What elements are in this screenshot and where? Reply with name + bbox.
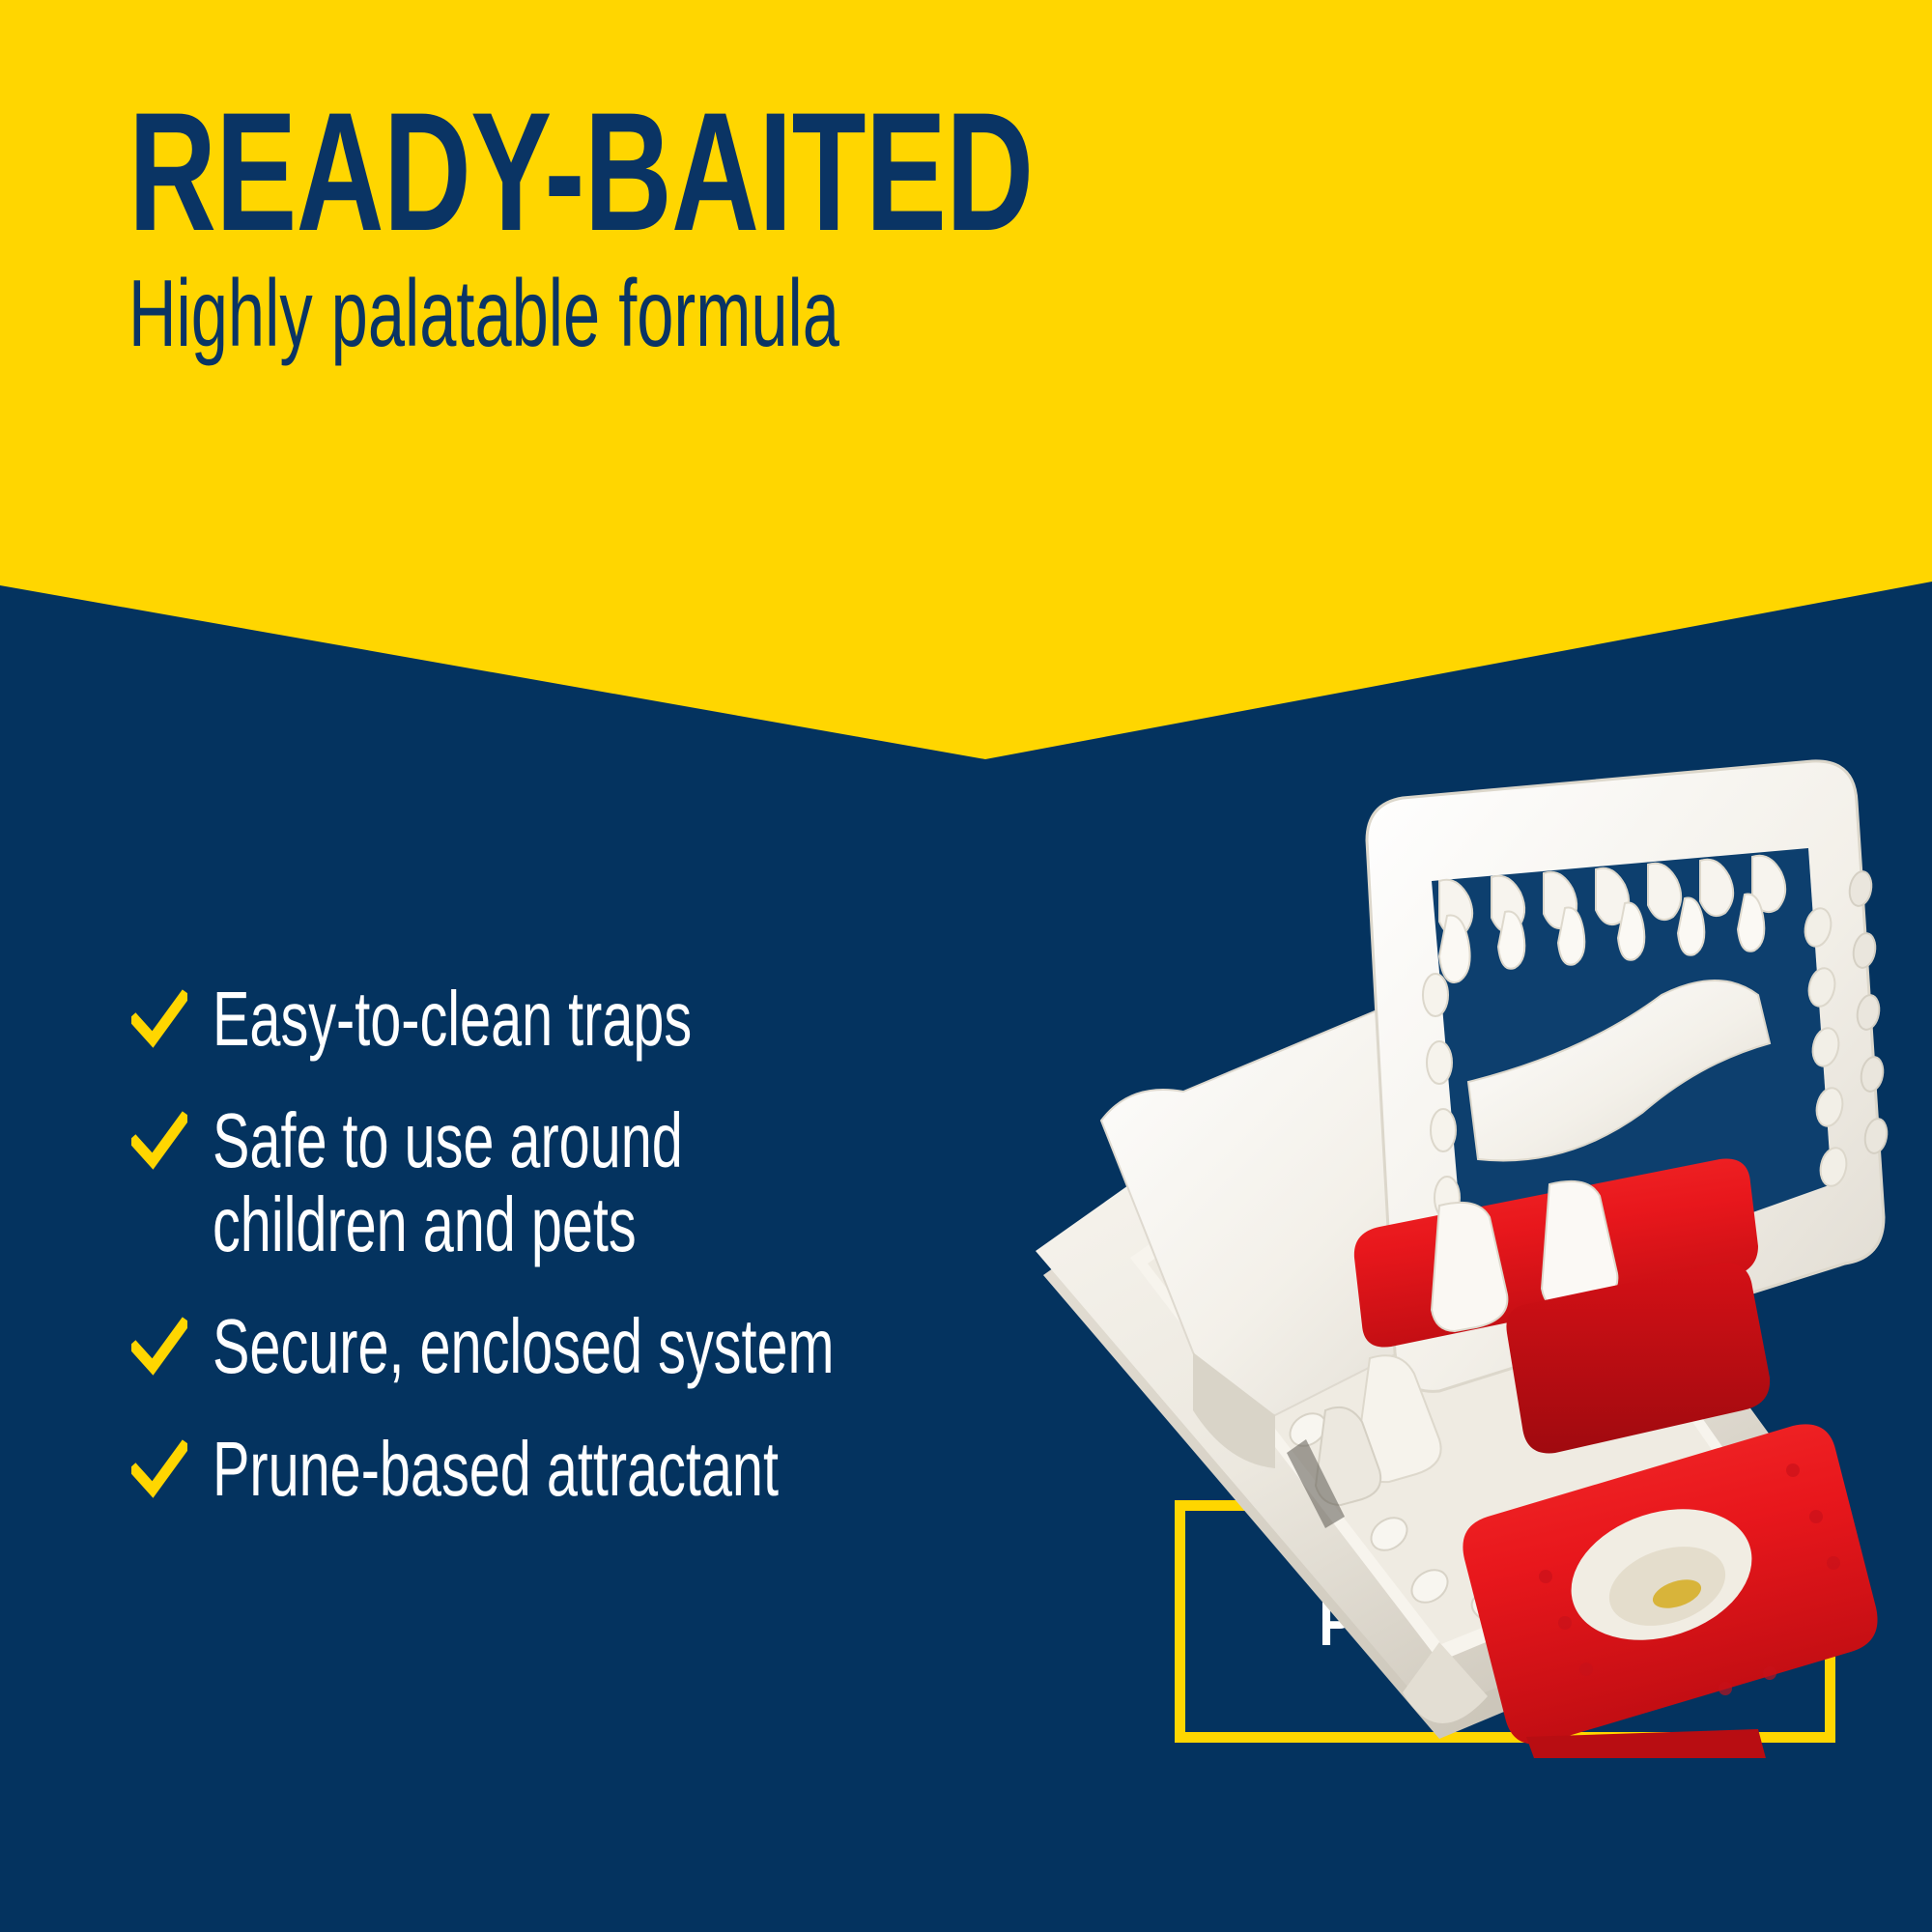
- status-badge: POISON-FREE: [1175, 1500, 1835, 1743]
- benefit-label: Secure, enclosed system: [213, 1305, 835, 1388]
- list-item: Prune-based attractant: [131, 1428, 1097, 1511]
- check-icon: [131, 1317, 187, 1377]
- marketing-banner: READY-BAITED Highly palatable formula Ea…: [0, 0, 1932, 1932]
- benefit-label: Safe to use around children and pets: [213, 1099, 683, 1266]
- list-item: Safe to use around children and pets: [131, 1099, 1097, 1266]
- benefit-label: Prune-based attractant: [213, 1428, 779, 1511]
- benefit-label: Easy-to-clean traps: [213, 978, 692, 1061]
- headline-block: READY-BAITED Highly palatable formula: [128, 95, 1384, 360]
- list-item: Secure, enclosed system: [131, 1305, 1097, 1388]
- status-badge-label: POISON-FREE: [1319, 1583, 1691, 1661]
- page-title: READY-BAITED: [128, 95, 1033, 250]
- check-icon: [131, 989, 187, 1049]
- benefits-list: Easy-to-clean traps Safe to use around c…: [131, 978, 1097, 1511]
- check-icon: [131, 1111, 187, 1171]
- page-subtitle: Highly palatable formula: [128, 250, 1008, 360]
- list-item: Easy-to-clean traps: [131, 978, 1097, 1061]
- check-icon: [131, 1439, 187, 1499]
